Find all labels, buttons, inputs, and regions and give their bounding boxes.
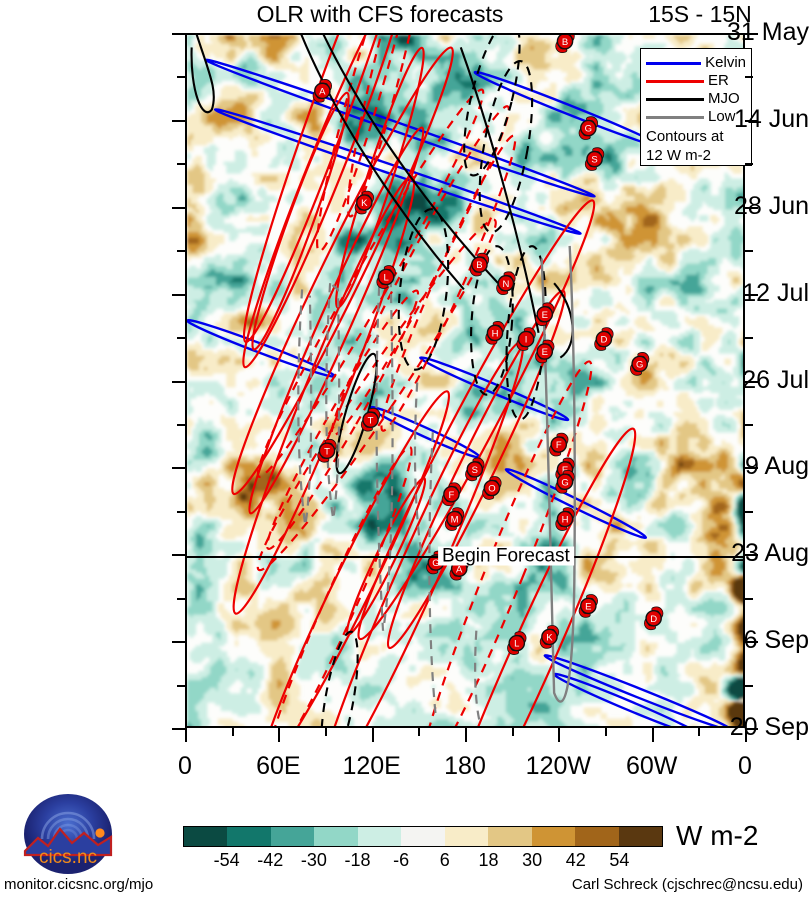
x-tick-minor <box>512 728 514 736</box>
cyclone-label: M <box>451 515 459 526</box>
cyclone-label: B <box>476 260 482 271</box>
logo-sun <box>95 828 104 837</box>
y-tick-minor <box>745 337 753 339</box>
wave-contour <box>469 57 542 236</box>
legend-item-mjo: MJO <box>646 90 746 108</box>
legend-item-kelvin: Kelvin <box>646 54 746 72</box>
x-tick-minor <box>605 728 607 736</box>
y-tick <box>745 381 758 383</box>
footer-author: Carl Schreck (cjschrec@ncsu.edu) <box>572 876 803 894</box>
kelvin-line-swatch <box>646 62 701 65</box>
cyclone-marker: E <box>537 342 552 361</box>
cyclone-label: T <box>368 415 374 426</box>
colorbar-cell-1 <box>227 827 270 846</box>
y-tick <box>172 554 185 556</box>
colorbar-cell-9 <box>575 827 618 846</box>
y-tick-label: 31 May <box>659 20 809 45</box>
y-tick <box>745 207 758 209</box>
cyclone-marker: L <box>509 634 524 653</box>
cyclone-label: S <box>472 465 478 476</box>
y-tick-minor <box>745 424 753 426</box>
y-tick-minor <box>177 598 185 600</box>
y-tick-minor <box>745 685 753 687</box>
cyclone-label: G <box>561 477 568 488</box>
legend-label-er: ER <box>708 73 729 89</box>
colorbar-cell-5 <box>401 827 444 846</box>
cyclone-label: E <box>585 601 591 612</box>
x-tick <box>372 728 374 742</box>
colorbar-cell-10 <box>619 827 662 846</box>
cyclone-label: F <box>449 490 455 501</box>
cyclone-label: E <box>542 310 548 321</box>
cyclone-marker: S <box>467 460 482 479</box>
er-line-swatch <box>646 80 704 83</box>
mjo-line-swatch <box>646 98 704 101</box>
cyclone-marker: F <box>444 485 459 504</box>
cyclone-label: G <box>585 124 592 135</box>
colorbar-cell-4 <box>358 827 401 846</box>
x-tick-minor <box>232 728 234 736</box>
wave-contour <box>301 334 540 728</box>
y-tick <box>745 294 758 296</box>
cyclone-label: K <box>361 198 368 209</box>
legend-label-kelvin: Kelvin <box>705 55 746 71</box>
colorbar-cell-2 <box>271 827 314 846</box>
cyclone-label: B <box>562 37 568 48</box>
y-tick <box>172 207 185 209</box>
contour-note-line2: 12 W m-2 <box>646 147 746 164</box>
cyclone-label: E <box>542 347 548 358</box>
y-tick <box>172 641 185 643</box>
y-tick <box>172 33 185 35</box>
cyclone-marker: E <box>581 596 596 615</box>
x-tick-label: 0 <box>685 752 805 780</box>
wave-contour <box>192 35 214 112</box>
x-tick <box>278 728 280 742</box>
colorbar-tick-label: 54 <box>589 850 649 870</box>
cyclone-marker: H <box>487 323 502 342</box>
cyclone-label: I <box>525 335 528 346</box>
wave-contour <box>255 441 425 728</box>
cyclone-marker: T <box>363 410 378 429</box>
cyclone-marker: K <box>357 193 372 212</box>
cyclone-label: D <box>650 614 657 625</box>
y-tick-label: 28 Jun <box>659 194 809 219</box>
cyclone-label: S <box>591 155 597 166</box>
colorbar-cell-3 <box>314 827 357 846</box>
y-tick <box>172 120 185 122</box>
y-tick-minor <box>745 250 753 252</box>
cyclone-marker: G <box>632 354 647 373</box>
cyclone-label: O <box>488 484 495 495</box>
cyclone-marker: B <box>557 35 572 51</box>
x-tick <box>465 728 467 742</box>
cyclone-label: A <box>319 86 326 97</box>
colorbar <box>183 826 663 847</box>
y-tick <box>745 554 758 556</box>
x-tick <box>652 728 654 742</box>
page-title: OLR with CFS forecasts <box>185 0 575 28</box>
y-tick-label: 14 Jun <box>659 107 809 132</box>
y-tick-label: 12 Jul <box>659 281 809 306</box>
y-tick-minor <box>177 337 185 339</box>
cyclone-marker: I <box>519 330 534 349</box>
y-tick-minor <box>745 598 753 600</box>
cicsnc-logo: cics.nc <box>8 793 128 875</box>
cyclone-label: L <box>514 639 519 650</box>
wave-contour <box>411 420 653 728</box>
begin-forecast-label: Begin Forecast <box>438 547 574 566</box>
y-tick <box>745 33 758 35</box>
y-tick-minor <box>745 511 753 513</box>
cyclone-marker: D <box>646 609 661 628</box>
y-tick <box>172 728 185 730</box>
y-tick-label: 20 Sep <box>659 715 809 740</box>
footer-url[interactable]: monitor.cicsnc.org/mjo <box>4 876 153 894</box>
y-tick-minor <box>177 511 185 513</box>
cyclone-label: L <box>383 273 388 284</box>
cyclone-label: T <box>324 446 330 457</box>
x-tick <box>185 728 187 742</box>
y-tick-minor <box>745 76 753 78</box>
cyclone-label: D <box>600 335 607 346</box>
y-tick <box>745 120 758 122</box>
y-tick-minor <box>177 685 185 687</box>
colorbar-cell-0 <box>184 827 227 846</box>
y-tick <box>172 381 185 383</box>
cyclone-marker: O <box>484 479 499 498</box>
wave-contour <box>429 432 436 717</box>
cyclone-label: H <box>562 515 569 526</box>
colorbar-cell-8 <box>532 827 575 846</box>
wave-contour <box>392 207 455 372</box>
logo-text: cics.nc <box>39 847 97 868</box>
y-tick-label: 6 Sep <box>659 628 809 653</box>
cyclone-marker: K <box>542 627 557 646</box>
colorbar-unit: W m-2 <box>676 820 758 852</box>
cyclone-marker: N <box>498 274 513 293</box>
y-tick <box>172 467 185 469</box>
cyclone-label: G <box>636 359 643 370</box>
y-tick <box>172 294 185 296</box>
legend-item-er: ER <box>646 72 746 90</box>
y-tick-label: 26 Jul <box>659 368 809 393</box>
y-tick-label: 9 Aug <box>659 454 809 479</box>
cyclone-marker: D <box>596 330 611 349</box>
x-tick-minor <box>325 728 327 736</box>
colorbar-cell-6 <box>445 827 488 846</box>
cyclone-marker: F <box>551 435 566 454</box>
y-tick <box>745 467 758 469</box>
y-tick <box>745 641 758 643</box>
colorbar-cell-7 <box>488 827 531 846</box>
y-tick-label: 23 Aug <box>659 541 809 566</box>
y-tick-minor <box>177 76 185 78</box>
y-tick-minor <box>177 424 185 426</box>
wave-contour <box>214 105 582 238</box>
y-tick-minor <box>745 163 753 165</box>
y-tick-minor <box>177 163 185 165</box>
cyclone-label: K <box>546 633 553 644</box>
x-tick <box>745 728 747 742</box>
cyclone-label: N <box>502 279 509 290</box>
cyclone-marker: S <box>587 150 602 169</box>
x-tick-minor <box>698 728 700 736</box>
y-tick-minor <box>177 250 185 252</box>
x-tick <box>558 728 560 742</box>
cyclone-label: H <box>492 328 499 339</box>
x-tick-minor <box>418 728 420 736</box>
wave-contour <box>326 283 339 519</box>
cyclone-label: F <box>556 440 562 451</box>
